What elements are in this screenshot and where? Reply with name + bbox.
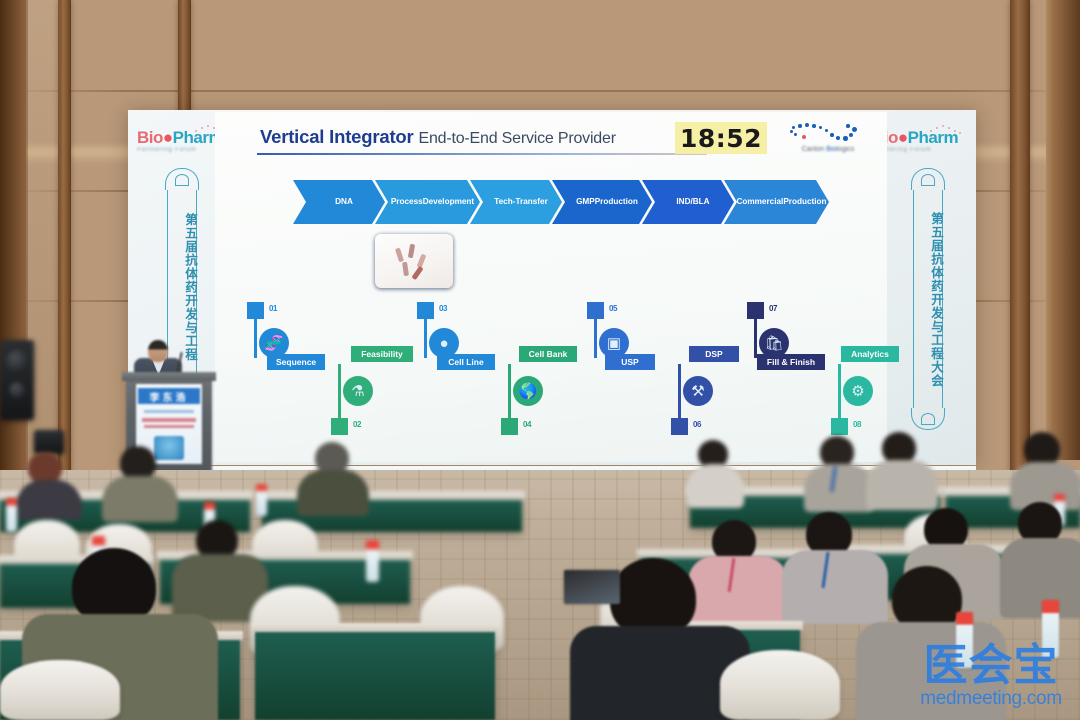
speaker-head <box>148 340 168 362</box>
countdown-timer: 18:52 <box>675 122 767 154</box>
node-stem <box>594 316 597 358</box>
node-stem <box>508 364 511 420</box>
vial-bank-icon: 🌎 <box>513 376 543 406</box>
banner-right-vertical: 第五届抗体药开发与工程大会 <box>908 168 948 430</box>
watermark-logo-text: 医会宝 <box>905 645 1077 687</box>
audience-chair <box>0 660 120 720</box>
node-label: Fill & Finish <box>757 354 825 370</box>
dna-swirl-icon <box>786 122 870 146</box>
process-arrow: CommercialProduction <box>724 180 829 224</box>
banner-right-text: 第五届抗体药开发与工程大会 <box>913 190 943 408</box>
timer-value: 18:52 <box>680 124 762 153</box>
node-number-badge: 05 <box>609 304 617 313</box>
node-number-badge: 04 <box>523 420 531 429</box>
header-divider <box>257 153 707 155</box>
node-label: Cell Bank <box>519 346 577 362</box>
process-arrow: IND/BLA <box>642 180 734 224</box>
process-flow-arrows: DNAProcessDevelopmentTech-TransferGMPPro… <box>293 180 813 224</box>
column-icon: ⚒ <box>683 376 713 406</box>
process-arrow: Tech-Transfer <box>470 180 562 224</box>
node-label: Sequence <box>267 354 325 370</box>
node-number-badge: 03 <box>439 304 447 313</box>
node-number-badge: 01 <box>269 304 277 313</box>
audience-chair <box>720 650 840 720</box>
slide-title-bold: Vertical Integrator <box>260 126 414 147</box>
node-label: DSP <box>689 346 739 362</box>
node-stem <box>424 316 427 358</box>
pa-speaker-lower <box>34 430 64 454</box>
workflow-node-map: 🧬01Sequence⚗02Feasibility●03Cell Line🌎04… <box>239 302 863 442</box>
ornament-icon <box>911 168 945 190</box>
water-bottle <box>256 484 267 516</box>
process-arrow-label: Tech- <box>494 197 515 206</box>
node-number-badge: 07 <box>769 304 777 313</box>
flask-icon: ⚗ <box>343 376 373 406</box>
monitor-icon: ⚙ <box>843 376 873 406</box>
process-arrow-label: Transfer <box>515 197 547 206</box>
node-stem <box>678 364 681 420</box>
process-arrow-label: Development <box>423 197 474 206</box>
process-arrow-label: GMP <box>576 197 595 206</box>
node-stem <box>754 316 757 358</box>
canton-biologics-logo: Canton Biologics <box>780 122 876 162</box>
slide-title-rest: End-to-End Service Provider <box>418 130 615 147</box>
page-title: Vertical Integrator End-to-End Service P… <box>260 126 616 148</box>
water-bottle <box>6 498 17 532</box>
node-cap <box>501 418 518 435</box>
presentation-slide: Vertical Integrator End-to-End Service P… <box>215 112 887 462</box>
lab-photo-thumbnails <box>375 234 715 292</box>
canton-logo-text: Canton Biologics <box>780 146 876 153</box>
node-stem <box>838 364 841 420</box>
node-label: USP <box>605 354 655 370</box>
ornament-icon <box>165 168 199 190</box>
audience-table <box>255 630 495 720</box>
node-stem <box>338 364 341 420</box>
node-number-badge: 02 <box>353 420 361 429</box>
watermark-url: medmeeting.com <box>905 688 1077 710</box>
node-label: Feasibility <box>351 346 413 362</box>
node-stem <box>254 316 257 358</box>
sparkle-icon <box>928 125 962 134</box>
water-bottle <box>366 540 379 582</box>
node-cap <box>671 418 688 435</box>
process-arrow-label: IND/BLA <box>676 197 709 206</box>
process-arrow-label: Commercial <box>736 197 783 206</box>
pa-speaker-upper <box>0 340 34 420</box>
node-label: Analytics <box>841 346 899 362</box>
node-label: Cell Line <box>437 354 495 370</box>
node-cap <box>831 418 848 435</box>
process-arrow-label: Production <box>783 197 826 206</box>
process-arrow-label: Production <box>595 197 638 206</box>
process-arrow-label: DNA <box>335 197 353 206</box>
biopharm-dot-icon: ● <box>163 128 173 147</box>
banner-left-vertical: 第五届抗体药开发与工程 <box>162 168 202 383</box>
placard-image <box>154 436 184 460</box>
node-cap <box>331 418 348 435</box>
slide-header: Vertical Integrator End-to-End Service P… <box>215 120 887 162</box>
process-arrow: ProcessDevelopment <box>375 180 480 224</box>
process-arrow: DNA <box>293 180 385 224</box>
vials-photo <box>375 234 453 288</box>
smartphone-icon <box>564 570 620 604</box>
conference-photo: Bio●Pharm Partnering Forum Bio●Pharm Par… <box>0 0 1080 720</box>
biopharm-dot-icon: ● <box>898 128 908 147</box>
ornament-icon <box>911 408 945 430</box>
process-arrow: GMPProduction <box>552 180 652 224</box>
node-number-badge: 06 <box>693 420 701 429</box>
process-arrow-label: Process <box>391 197 423 206</box>
speaker-name-plate: 李东浩 <box>138 388 200 404</box>
node-number-badge: 08 <box>853 420 861 429</box>
biopharm-bio-text: Bio <box>137 128 163 147</box>
watermark: 医会宝 medmeeting.com <box>905 645 1077 710</box>
